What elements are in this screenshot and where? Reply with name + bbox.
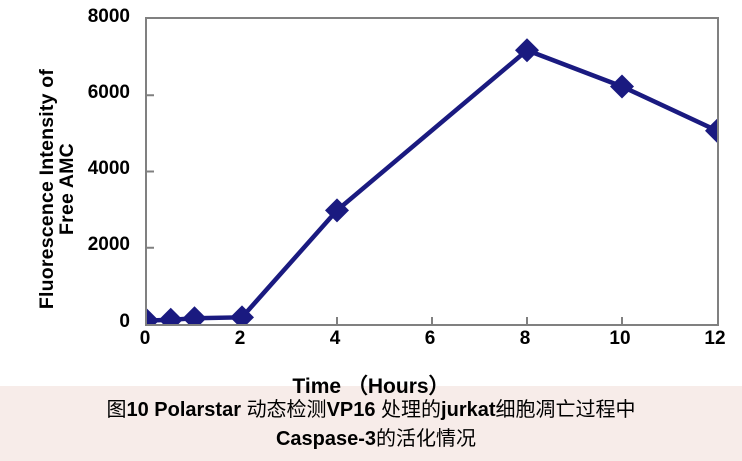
- caption-seg-fig: 图: [106, 399, 126, 421]
- x-tick-label-12: 12: [704, 328, 725, 350]
- figure-caption-line-1: 图10 Polarstar 动态检测VP16 处理的jurkat细胞凋亡过程中: [0, 396, 742, 425]
- data-point-marker: [183, 306, 207, 324]
- x-axis-title: Time （Hours）: [0, 370, 742, 400]
- plot-canvas: [147, 19, 717, 324]
- y-axis-title-line-1: Fluorescence Intensity of: [37, 69, 57, 309]
- x-tick-label-10: 10: [609, 328, 630, 350]
- data-point-marker: [705, 119, 717, 143]
- figure-caption: 图10 Polarstar 动态检测VP16 处理的jurkat细胞凋亡过程中 …: [0, 396, 742, 454]
- plot-frame: [145, 17, 719, 326]
- caption-seg-activation: 的活化情况: [376, 428, 476, 450]
- x-tick-label-8: 8: [520, 328, 531, 350]
- y-tick-label-4000: 4000: [64, 158, 130, 180]
- figure-root: Fluorescence Intensity of Free AMC 0 200…: [0, 0, 742, 461]
- series-line: [147, 50, 717, 320]
- caption-seg-caspase3: Caspase-3: [276, 428, 376, 450]
- caption-seg-treated: 处理的: [381, 399, 441, 421]
- y-tick-label-6000: 6000: [64, 82, 130, 104]
- y-tick-label-2000: 2000: [64, 234, 130, 256]
- data-point-marker: [159, 308, 183, 324]
- chart-area: Fluorescence Intensity of Free AMC 0 200…: [0, 0, 742, 386]
- x-tick-label-0: 0: [140, 328, 151, 350]
- x-tick-label-6: 6: [425, 328, 436, 350]
- caption-seg-number-polarstar: 10 Polarstar: [126, 399, 246, 421]
- caption-seg-vp16: VP16: [327, 399, 381, 421]
- figure-caption-line-2: Caspase-3的活化情况: [0, 425, 742, 454]
- caption-seg-dynamic-detection: 动态检测: [247, 399, 327, 421]
- y-tick-label-8000: 8000: [64, 6, 130, 28]
- caption-seg-apoptosis: 细胞凋亡过程中: [496, 399, 636, 421]
- x-axis-tick-labels: 0 2 4 6 8 10 12: [0, 328, 742, 358]
- caption-seg-jurkat: jurkat: [441, 399, 495, 421]
- x-tick-label-4: 4: [330, 328, 341, 350]
- data-point-marker: [610, 74, 634, 98]
- x-tick-label-2: 2: [235, 328, 246, 350]
- data-point-marker: [147, 309, 159, 324]
